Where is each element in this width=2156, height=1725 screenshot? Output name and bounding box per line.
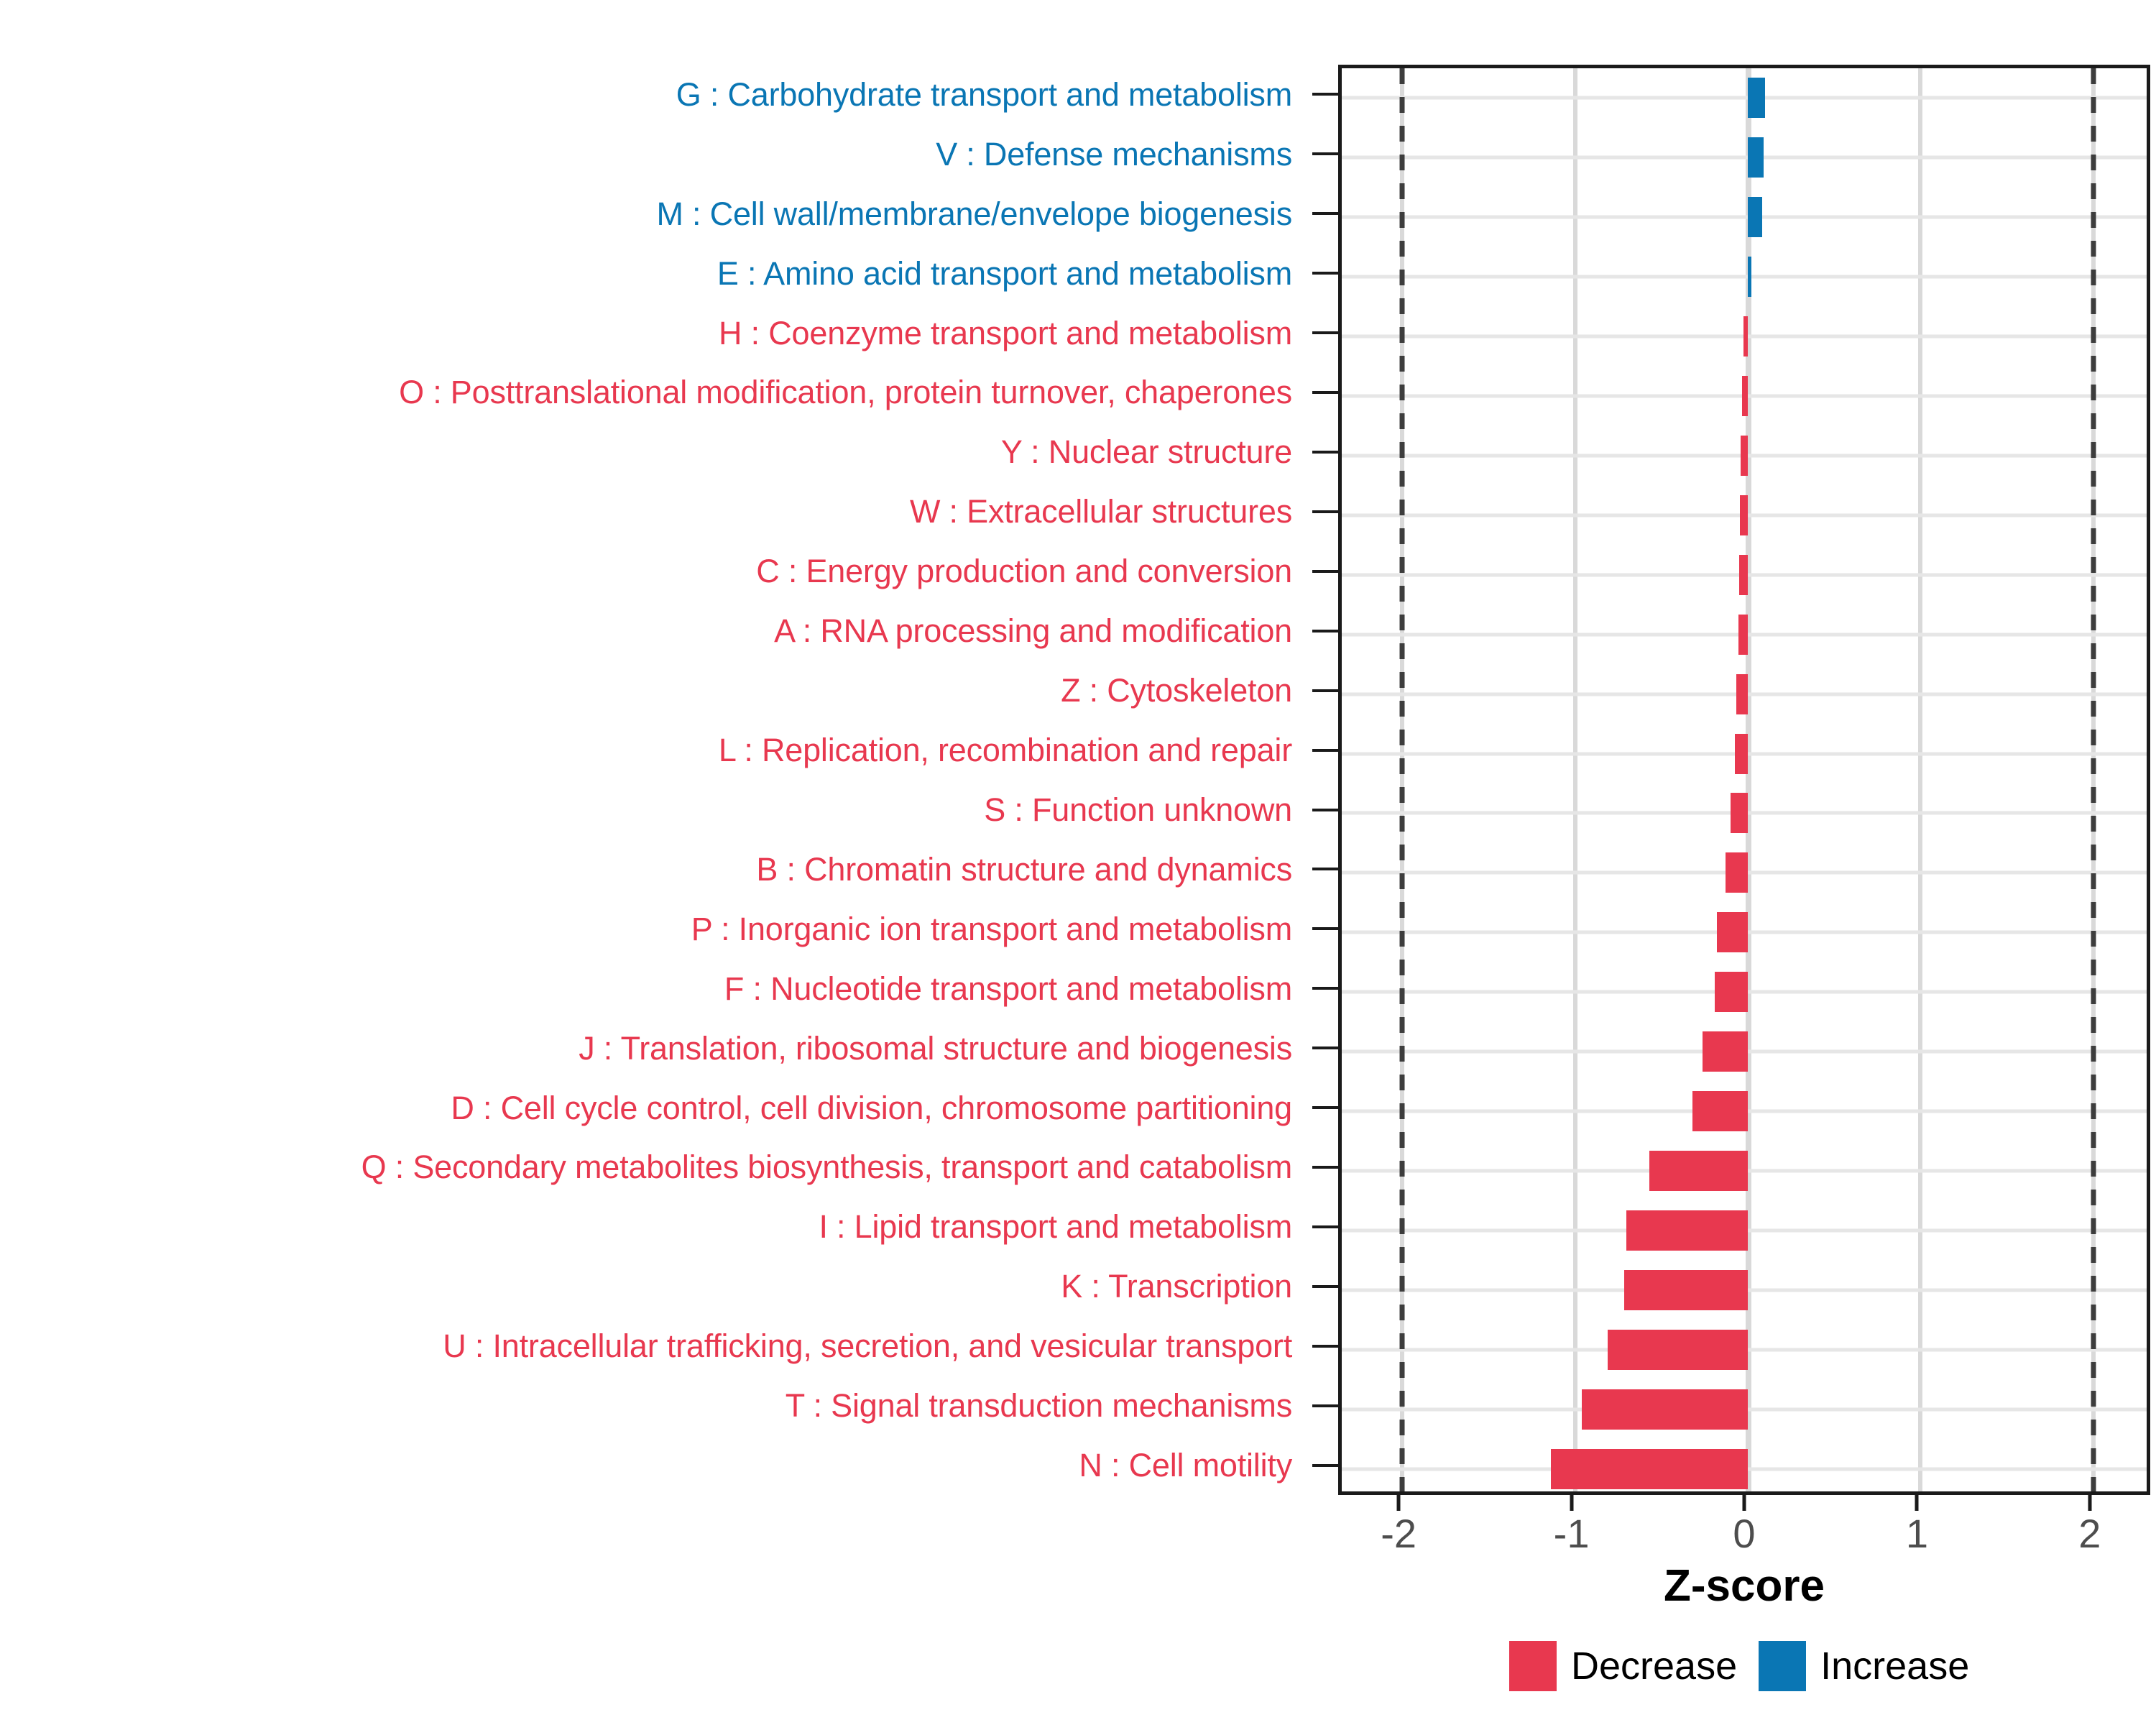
bar-row bbox=[1342, 307, 2147, 367]
y-axis-tick-mark bbox=[1312, 1106, 1338, 1109]
y-axis-tick-mark bbox=[1312, 1225, 1338, 1228]
bar[interactable] bbox=[1739, 555, 1748, 595]
category-label-row: O : Posttranslational modification, prot… bbox=[0, 363, 1302, 423]
y-axis-tick-mark bbox=[1312, 630, 1338, 632]
y-axis-tick-mark bbox=[1312, 1404, 1338, 1407]
y-axis-tick-mark bbox=[1312, 152, 1338, 155]
bar[interactable] bbox=[1608, 1330, 1748, 1370]
x-axis-tick-label: 1 bbox=[1906, 1514, 1928, 1554]
bar[interactable] bbox=[1731, 793, 1748, 833]
category-label: B : Chromatin structure and dynamics bbox=[756, 852, 1292, 886]
category-label: G : Carbohydrate transport and metabolis… bbox=[676, 78, 1292, 111]
bar[interactable] bbox=[1742, 376, 1748, 416]
bar-row bbox=[1342, 1200, 2147, 1260]
x-axis-tick-label: 0 bbox=[1733, 1514, 1755, 1554]
x-axis-title: Z-score bbox=[1338, 1564, 2150, 1609]
category-label-row: K : Transcription bbox=[0, 1256, 1302, 1316]
bar[interactable] bbox=[1740, 495, 1748, 535]
y-axis-tick bbox=[1312, 1018, 1338, 1078]
y-axis-tick bbox=[1312, 1197, 1338, 1257]
category-label-row: E : Amino acid transport and metabolism bbox=[0, 244, 1302, 303]
bar-row bbox=[1342, 247, 2147, 307]
y-axis-tick-mark bbox=[1312, 689, 1338, 692]
y-axis-tick bbox=[1312, 839, 1338, 899]
y-axis-tick-mark bbox=[1312, 749, 1338, 752]
category-label: Y : Nuclear structure bbox=[1001, 435, 1292, 469]
category-label-row: I : Lipid transport and metabolism bbox=[0, 1197, 1302, 1257]
y-axis-tick bbox=[1312, 482, 1338, 541]
category-label: Q : Secondary metabolites biosynthesis, … bbox=[361, 1150, 1292, 1184]
y-axis-tick bbox=[1312, 363, 1338, 423]
bar[interactable] bbox=[1626, 1210, 1749, 1251]
category-label-row: P : Inorganic ion transport and metaboli… bbox=[0, 899, 1302, 959]
bar-row bbox=[1342, 843, 2147, 903]
y-axis-tick-mark bbox=[1312, 809, 1338, 811]
category-label-row: S : Function unknown bbox=[0, 780, 1302, 839]
bar[interactable] bbox=[1748, 137, 1764, 178]
y-axis-tick-mark bbox=[1312, 1285, 1338, 1288]
bar-row bbox=[1342, 903, 2147, 962]
y-axis-tick-mark bbox=[1312, 331, 1338, 334]
bar-row bbox=[1342, 1022, 2147, 1082]
x-axis-tick-label: 2 bbox=[2078, 1514, 2101, 1554]
y-axis-tick bbox=[1312, 1256, 1338, 1316]
category-label: M : Cell wall/membrane/envelope biogenes… bbox=[656, 197, 1292, 231]
x-axis-tick-mark bbox=[1570, 1495, 1573, 1511]
y-axis-tick-mark bbox=[1312, 93, 1338, 96]
category-label-row: B : Chromatin structure and dynamics bbox=[0, 839, 1302, 899]
y-axis-tick bbox=[1312, 1316, 1338, 1376]
x-axis-tick-label: -1 bbox=[1554, 1514, 1590, 1554]
category-label: L : Replication, recombination and repai… bbox=[719, 733, 1292, 767]
bar-row bbox=[1342, 128, 2147, 188]
y-axis-tick bbox=[1312, 1078, 1338, 1138]
legend: DecreaseIncrease bbox=[1509, 1636, 2084, 1696]
y-axis-tick bbox=[1312, 65, 1338, 124]
y-axis-tick bbox=[1312, 959, 1338, 1018]
category-label-row: T : Signal transduction mechanisms bbox=[0, 1376, 1302, 1435]
y-axis-tick bbox=[1312, 1435, 1338, 1495]
category-label: P : Inorganic ion transport and metaboli… bbox=[691, 912, 1292, 946]
y-axis-tick-mark bbox=[1312, 272, 1338, 275]
bar[interactable] bbox=[1624, 1270, 1748, 1310]
x-axis-tick-row bbox=[1338, 1495, 2150, 1511]
y-axis-tick-mark bbox=[1312, 1166, 1338, 1169]
y-axis-tick-column bbox=[1312, 65, 1338, 1495]
bar[interactable] bbox=[1582, 1389, 1748, 1430]
y-axis-tick bbox=[1312, 601, 1338, 661]
bar-row bbox=[1342, 367, 2147, 426]
bar-row bbox=[1342, 1260, 2147, 1320]
y-axis-tick-mark bbox=[1312, 1046, 1338, 1049]
bar-row bbox=[1342, 962, 2147, 1022]
y-axis-tick bbox=[1312, 303, 1338, 363]
bar[interactable] bbox=[1703, 1031, 1748, 1072]
category-label: S : Function unknown bbox=[984, 793, 1292, 827]
category-label-row: A : RNA processing and modification bbox=[0, 601, 1302, 661]
bar[interactable] bbox=[1649, 1151, 1748, 1191]
bar[interactable] bbox=[1715, 972, 1748, 1012]
category-label-row: Q : Secondary metabolites biosynthesis, … bbox=[0, 1138, 1302, 1197]
category-label-row: J : Translation, ribosomal structure and… bbox=[0, 1018, 1302, 1078]
category-label: N : Cell motility bbox=[1079, 1448, 1292, 1482]
bar-row bbox=[1342, 1379, 2147, 1439]
y-axis-tick-mark bbox=[1312, 987, 1338, 990]
y-axis-tick-mark bbox=[1312, 927, 1338, 930]
bar[interactable] bbox=[1748, 197, 1762, 237]
category-label: U : Intracellular trafficking, secretion… bbox=[443, 1329, 1292, 1363]
bar[interactable] bbox=[1726, 852, 1748, 893]
bar-row bbox=[1342, 1320, 2147, 1379]
category-label-row: C : Energy production and conversion bbox=[0, 541, 1302, 601]
category-label-row: M : Cell wall/membrane/envelope biogenes… bbox=[0, 184, 1302, 244]
category-label: I : Lipid transport and metabolism bbox=[819, 1210, 1292, 1243]
y-axis-tick-mark bbox=[1312, 1345, 1338, 1348]
category-label: D : Cell cycle control, cell division, c… bbox=[451, 1091, 1292, 1125]
plot-panel bbox=[1338, 65, 2150, 1495]
bar[interactable] bbox=[1736, 674, 1748, 714]
bar-layer bbox=[1342, 68, 2147, 1491]
category-label: J : Translation, ribosomal structure and… bbox=[579, 1031, 1292, 1065]
bar-row bbox=[1342, 1141, 2147, 1201]
bar-row bbox=[1342, 1439, 2147, 1495]
y-axis-tick bbox=[1312, 184, 1338, 244]
y-axis-tick-mark bbox=[1312, 212, 1338, 215]
bar-row bbox=[1342, 485, 2147, 545]
bar[interactable] bbox=[1741, 436, 1748, 476]
bar[interactable] bbox=[1717, 912, 1748, 952]
category-label: T : Signal transduction mechanisms bbox=[786, 1389, 1292, 1422]
bar[interactable] bbox=[1748, 78, 1765, 118]
y-axis-tick bbox=[1312, 899, 1338, 959]
y-axis-tick-mark bbox=[1312, 451, 1338, 454]
x-axis-tick-mark bbox=[1397, 1495, 1401, 1511]
legend-label: Increase bbox=[1820, 1647, 1969, 1685]
category-label-row: G : Carbohydrate transport and metabolis… bbox=[0, 65, 1302, 124]
y-axis-tick-mark bbox=[1312, 868, 1338, 870]
category-label-column: G : Carbohydrate transport and metabolis… bbox=[0, 65, 1302, 1495]
category-label: A : RNA processing and modification bbox=[774, 614, 1292, 648]
y-axis-tick-mark bbox=[1312, 510, 1338, 513]
bar-row bbox=[1342, 664, 2147, 724]
bar[interactable] bbox=[1748, 257, 1751, 297]
x-axis-tick-labels: -2-1012 bbox=[1338, 1514, 2150, 1561]
x-axis-tick-mark bbox=[1915, 1495, 1919, 1511]
category-label-row: F : Nucleotide transport and metabolism bbox=[0, 959, 1302, 1018]
y-axis-tick bbox=[1312, 780, 1338, 839]
y-axis-tick bbox=[1312, 423, 1338, 482]
category-label-row: H : Coenzyme transport and metabolism bbox=[0, 303, 1302, 363]
cog-zscore-bar-chart: G : Carbohydrate transport and metabolis… bbox=[0, 0, 2156, 1725]
y-axis-tick-mark bbox=[1312, 570, 1338, 573]
category-label: Z : Cytoskeleton bbox=[1061, 673, 1292, 707]
category-label: V : Defense mechanisms bbox=[936, 137, 1292, 171]
bar-row bbox=[1342, 783, 2147, 843]
legend-item-inc[interactable]: Increase bbox=[1759, 1641, 1969, 1691]
x-axis-tick-mark bbox=[1743, 1495, 1746, 1511]
category-label-row: N : Cell motility bbox=[0, 1435, 1302, 1495]
category-label-row: U : Intracellular trafficking, secretion… bbox=[0, 1316, 1302, 1376]
x-axis-tick-mark bbox=[2088, 1495, 2091, 1511]
bar-row bbox=[1342, 604, 2147, 664]
bar-row bbox=[1342, 545, 2147, 604]
category-label: W : Extracellular structures bbox=[910, 494, 1292, 528]
category-label-row: Z : Cytoskeleton bbox=[0, 661, 1302, 720]
bar[interactable] bbox=[1738, 615, 1748, 655]
category-label: K : Transcription bbox=[1061, 1269, 1292, 1303]
y-axis-tick bbox=[1312, 541, 1338, 601]
legend-swatch-dec bbox=[1509, 1641, 1557, 1691]
y-axis-tick-mark bbox=[1312, 1464, 1338, 1467]
y-axis-tick bbox=[1312, 661, 1338, 720]
y-axis-tick bbox=[1312, 244, 1338, 303]
category-label: H : Coenzyme transport and metabolism bbox=[719, 316, 1292, 350]
bar-row bbox=[1342, 68, 2147, 128]
x-axis-tick-label: -2 bbox=[1381, 1514, 1416, 1554]
bar-row bbox=[1342, 188, 2147, 247]
bar[interactable] bbox=[1692, 1091, 1748, 1131]
bar-row bbox=[1342, 426, 2147, 486]
category-label-row: D : Cell cycle control, cell division, c… bbox=[0, 1078, 1302, 1138]
bar[interactable] bbox=[1551, 1449, 1748, 1489]
category-label: F : Nucleotide transport and metabolism bbox=[724, 972, 1292, 1006]
y-axis-tick bbox=[1312, 720, 1338, 780]
y-axis-tick bbox=[1312, 1138, 1338, 1197]
bar-row bbox=[1342, 724, 2147, 783]
bar[interactable] bbox=[1735, 734, 1748, 774]
y-axis-tick-mark bbox=[1312, 391, 1338, 394]
category-label: E : Amino acid transport and metabolism bbox=[717, 257, 1292, 290]
y-axis-tick bbox=[1312, 124, 1338, 184]
bar-row bbox=[1342, 1082, 2147, 1141]
legend-label: Decrease bbox=[1571, 1647, 1737, 1685]
category-label: C : Energy production and conversion bbox=[756, 554, 1292, 588]
legend-item-dec[interactable]: Decrease bbox=[1509, 1641, 1737, 1691]
category-label-row: V : Defense mechanisms bbox=[0, 124, 1302, 184]
category-label: O : Posttranslational modification, prot… bbox=[399, 375, 1292, 409]
y-axis-tick bbox=[1312, 1376, 1338, 1435]
category-label-row: Y : Nuclear structure bbox=[0, 423, 1302, 482]
legend-swatch-inc bbox=[1759, 1641, 1806, 1691]
category-label-row: W : Extracellular structures bbox=[0, 482, 1302, 541]
bar[interactable] bbox=[1743, 316, 1748, 356]
category-label-row: L : Replication, recombination and repai… bbox=[0, 720, 1302, 780]
